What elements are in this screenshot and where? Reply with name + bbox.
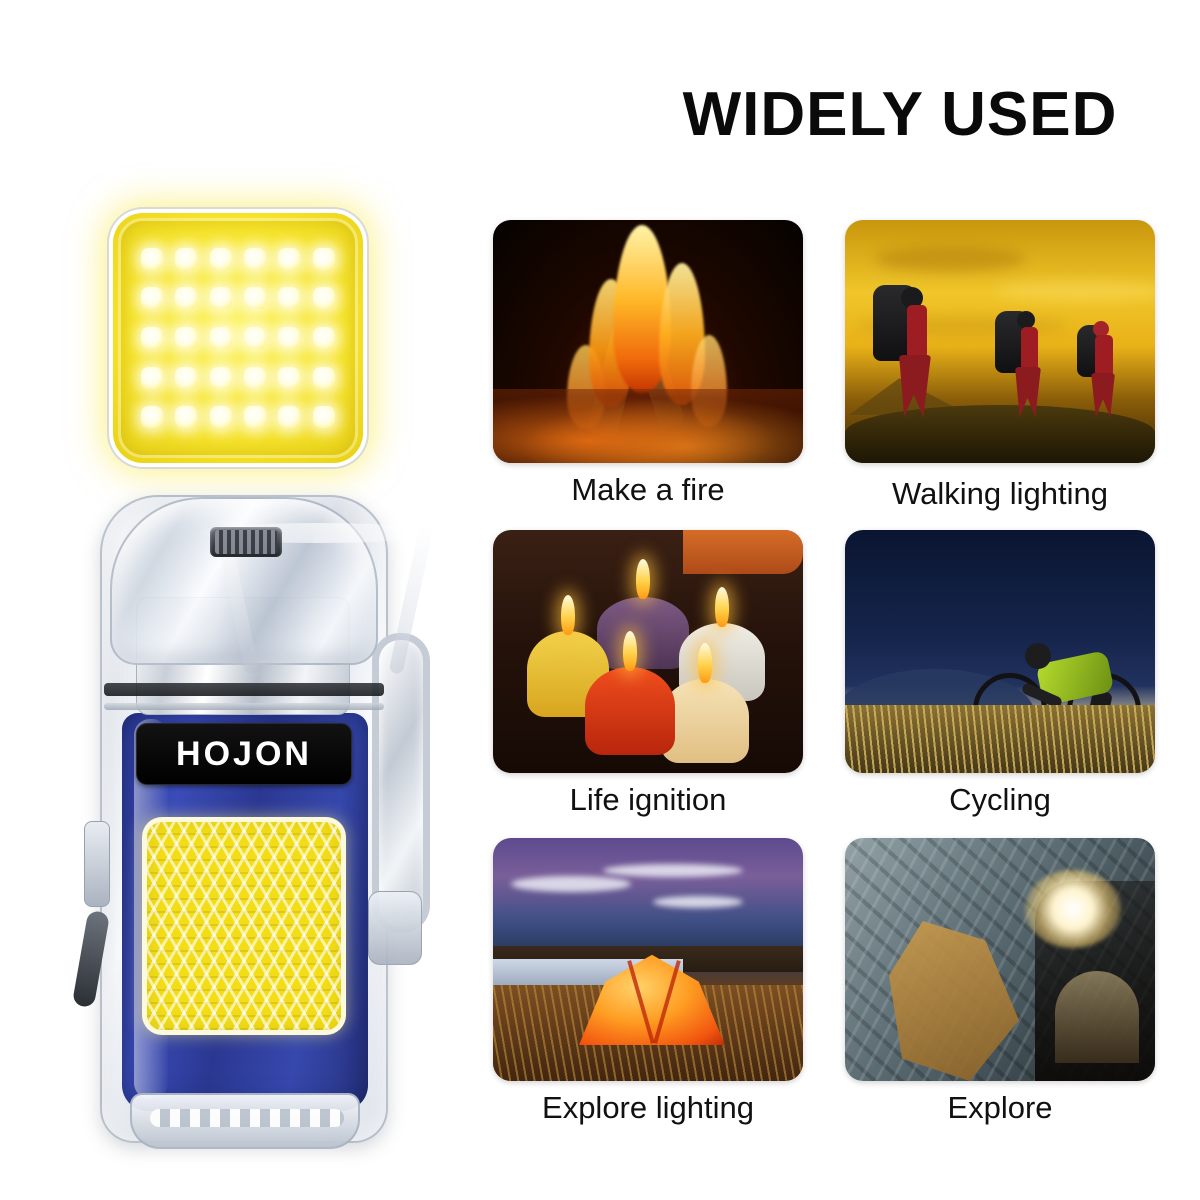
- led-dot: [175, 327, 197, 349]
- night-cycling-photo: [845, 530, 1155, 773]
- led-dot: [278, 327, 300, 349]
- grass: [845, 705, 1155, 773]
- use-case-walking-lighting[interactable]: Walking lighting: [845, 220, 1155, 512]
- use-case-cycling[interactable]: Cycling: [845, 530, 1155, 818]
- torso: [907, 305, 927, 359]
- use-case-caption: Explore lighting: [493, 1090, 803, 1126]
- led-dot: [210, 248, 232, 270]
- candle-flame: [698, 643, 712, 683]
- brand-name: HOJON: [176, 735, 312, 774]
- led-dot: [313, 406, 335, 428]
- led-dot: [175, 287, 197, 309]
- led-dot: [313, 367, 335, 389]
- seal-ring-lower: [104, 703, 384, 710]
- cloud: [875, 246, 1025, 272]
- cloud: [653, 896, 743, 908]
- campfire-photo: [493, 220, 803, 463]
- led-dot: [210, 287, 232, 309]
- page-title: WIDELY USED: [620, 82, 1180, 147]
- cave-light-glow: [1025, 870, 1121, 948]
- use-case-life-ignition[interactable]: Life ignition: [493, 530, 803, 818]
- use-case-caption: Cycling: [845, 782, 1155, 818]
- torso: [1095, 335, 1113, 377]
- candle-flame: [623, 631, 637, 671]
- led-dot: [175, 248, 197, 270]
- electric-arc-lighter: HOJON: [38, 487, 438, 1159]
- cloud: [511, 876, 631, 892]
- cave-photo: [845, 838, 1155, 1081]
- seal-ring: [104, 683, 384, 696]
- use-case-grid: Make a fire: [493, 220, 1175, 1155]
- side-clip: [368, 891, 422, 965]
- led-dot: [278, 287, 300, 309]
- led-dot: [278, 248, 300, 270]
- bottom-hinge-bar: [130, 1093, 360, 1149]
- waterproof-cap: [110, 497, 378, 665]
- use-case-caption: Life ignition: [493, 782, 803, 818]
- led-dot: [313, 327, 335, 349]
- use-case-explore-lighting[interactable]: Explore lighting: [493, 838, 803, 1126]
- led-dot: [141, 248, 163, 270]
- led-dot: [244, 287, 266, 309]
- cloud: [995, 280, 1155, 302]
- cloud: [603, 864, 743, 877]
- led-dot: [313, 287, 335, 309]
- background-cloth: [683, 530, 803, 574]
- led-dot: [313, 248, 335, 270]
- ridge: [845, 405, 1155, 463]
- led-dot-grid: [135, 239, 341, 437]
- led-dot: [244, 367, 266, 389]
- carabiner-clip-icon: [372, 633, 430, 933]
- camping-tent-photo: [493, 838, 803, 1081]
- arc-electrodes: [210, 527, 282, 557]
- product-showcase: HOJON: [0, 0, 470, 1200]
- candle-flame: [636, 559, 650, 599]
- candle: [585, 667, 675, 755]
- candles-photo: [493, 530, 803, 773]
- rider-helmet: [1025, 643, 1051, 669]
- led-dot: [141, 406, 163, 428]
- led-dot: [244, 406, 266, 428]
- use-case-explore[interactable]: Explore: [845, 838, 1155, 1126]
- led-dot: [141, 327, 163, 349]
- candle-flame: [715, 587, 729, 627]
- candle: [597, 597, 689, 669]
- use-case-caption: Explore: [845, 1090, 1155, 1126]
- cob-led-panel: [142, 817, 346, 1035]
- led-dot: [175, 406, 197, 428]
- side-latch: [84, 821, 110, 907]
- led-dot: [244, 248, 266, 270]
- led-dot: [278, 406, 300, 428]
- led-dot: [175, 367, 197, 389]
- candle-flame: [561, 595, 575, 635]
- led-dot: [210, 327, 232, 349]
- use-case-caption: Walking lighting: [845, 476, 1155, 512]
- led-light-panel: [113, 213, 363, 463]
- embers: [493, 389, 803, 463]
- use-case-caption: Make a fire: [493, 472, 803, 508]
- led-dot: [244, 327, 266, 349]
- use-case-make-a-fire[interactable]: Make a fire: [493, 220, 803, 508]
- led-dot: [210, 367, 232, 389]
- led-dot: [210, 406, 232, 428]
- torso: [1021, 327, 1038, 371]
- led-dot: [141, 287, 163, 309]
- cave-arch: [1055, 971, 1139, 1063]
- led-dot: [278, 367, 300, 389]
- hiking-sunset-photo: [845, 220, 1155, 463]
- brand-label: HOJON: [136, 723, 352, 785]
- led-dot: [141, 367, 163, 389]
